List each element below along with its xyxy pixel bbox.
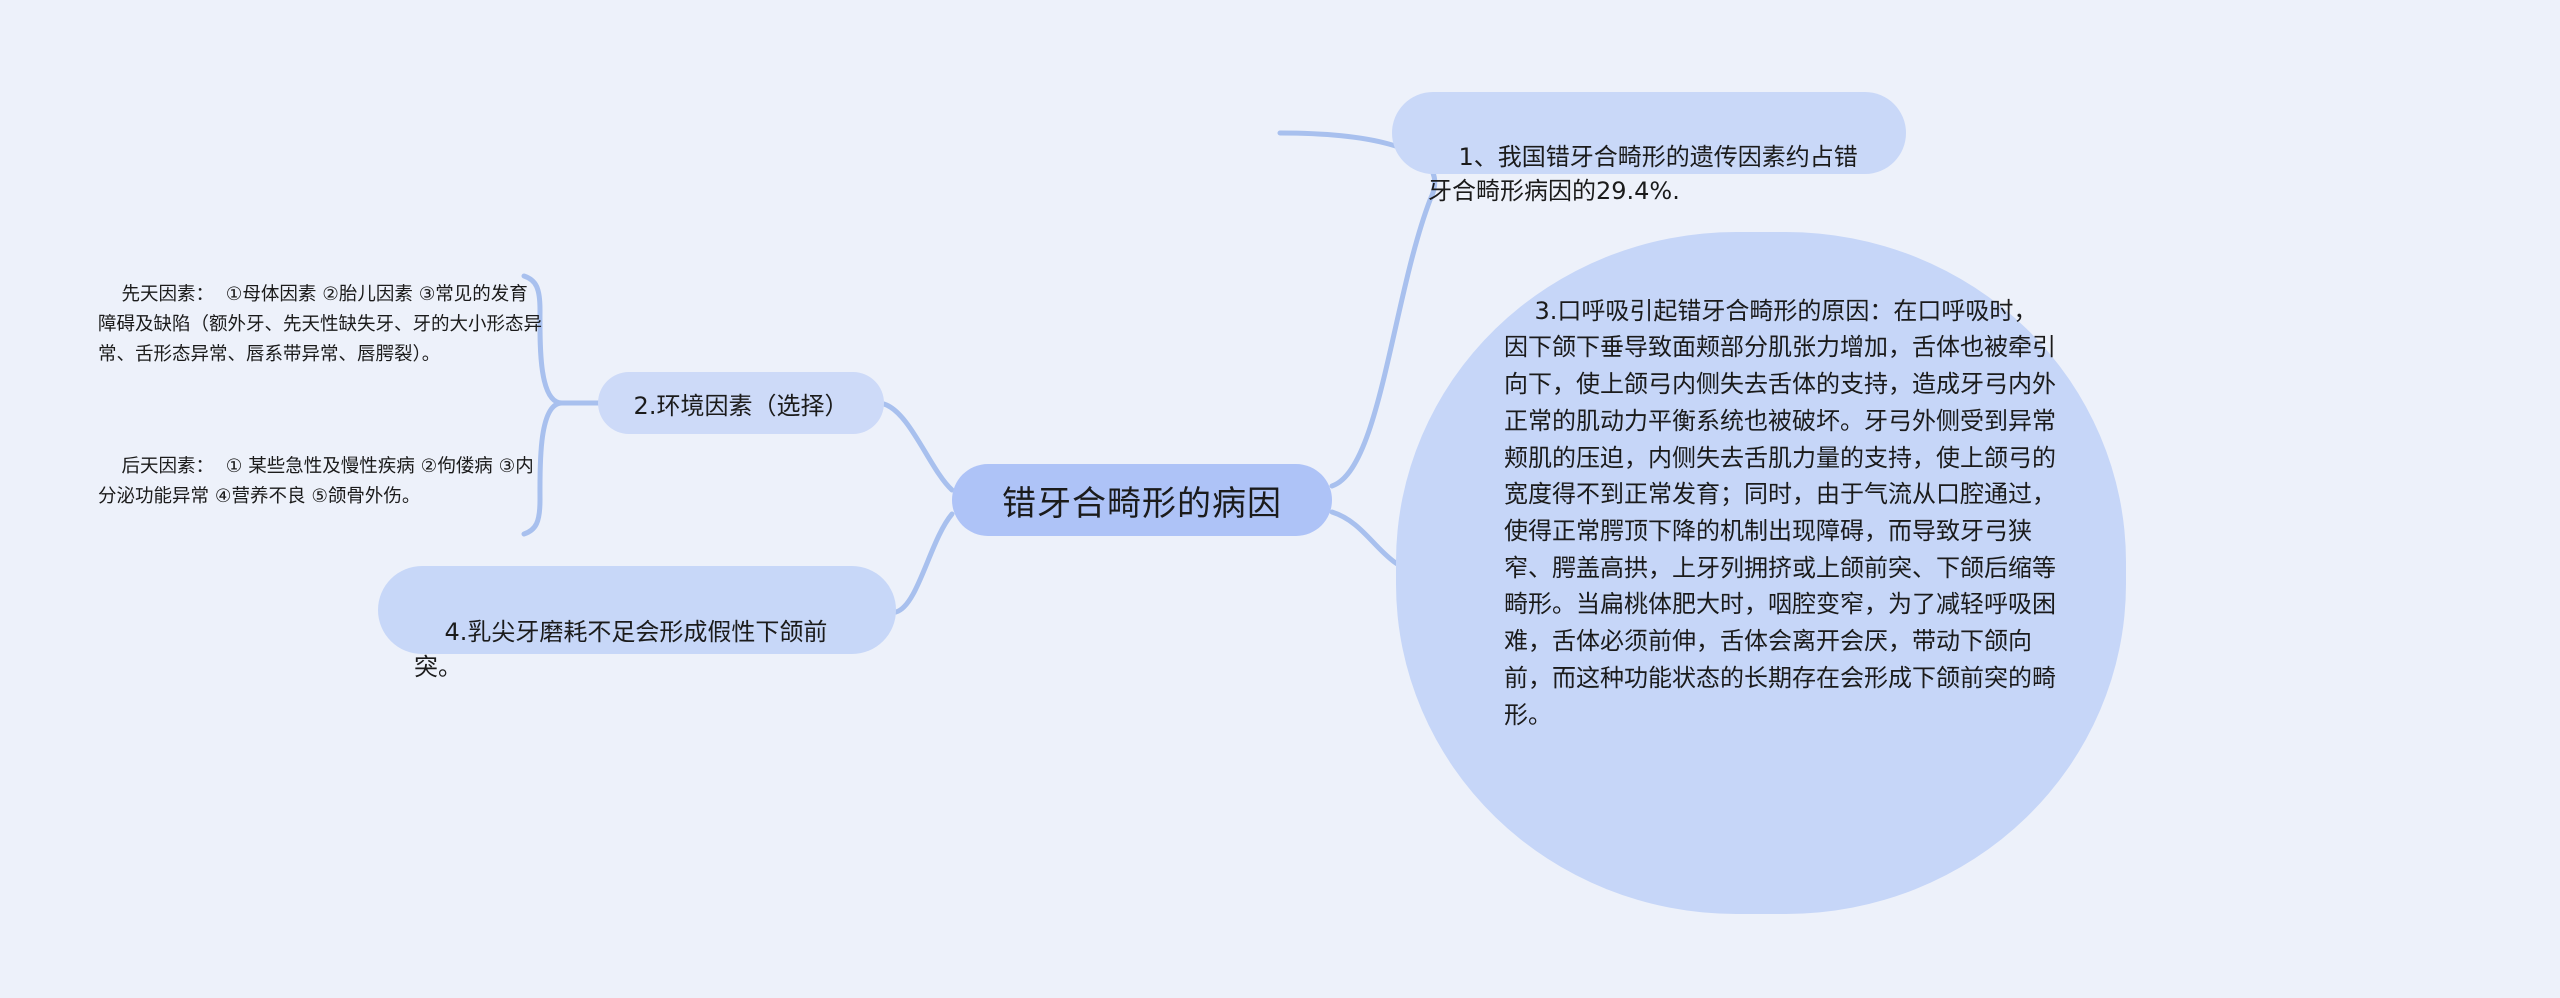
leaf-congenital-factor[interactable]: 先天因素： ①母体因素 ②胎儿因素 ③常见的发育障碍及缺陷（额外牙、先天性缺失牙… [98, 250, 544, 400]
root-node[interactable]: 错牙合畸形的病因 [952, 464, 1332, 536]
node-mouth-breathing-cause-label: 3.口呼吸引起错牙合畸形的原因：在口呼吸时，因下颌下垂导致面颊部分肌张力增加，舌… [1504, 297, 2056, 729]
leaf-acquired-factor-label: 后天因素： ① 某些急性及慢性疾病 ②佝偻病 ③内分泌功能异常 ④营养不良 ⑤颌… [98, 456, 534, 507]
node-environment-factor[interactable]: 2.环境因素（选择） [598, 372, 884, 434]
leaf-congenital-factor-label: 先天因素： ①母体因素 ②胎儿因素 ③常见的发育障碍及缺陷（额外牙、先天性缺失牙… [98, 284, 542, 365]
edge-root-to-canine [896, 514, 952, 612]
mindmap-canvas: 错牙合畸形的病因 1、我国错牙合畸形的遗传因素约占错牙合畸形病因的29.4%. … [0, 0, 2560, 998]
node-mouth-breathing-cause[interactable]: 3.口呼吸引起错牙合畸形的原因：在口呼吸时，因下颌下垂导致面颊部分肌张力增加，舌… [1396, 232, 2126, 914]
edge-root-to-genetic [1280, 133, 1435, 486]
node-deciduous-canine-wear-label: 4.乳尖牙磨耗不足会形成假性下颌前突。 [414, 618, 827, 681]
node-environment-factor-label: 2.环境因素（选择） [634, 386, 849, 421]
edge-root-to-environment [884, 404, 952, 490]
node-genetic-factor-label: 1、我国错牙合畸形的遗传因素约占错牙合畸形病因的29.4%. [1428, 143, 1858, 205]
leaf-acquired-factor[interactable]: 后天因素： ① 某些急性及慢性疾病 ②佝偻病 ③内分泌功能异常 ④营养不良 ⑤颌… [98, 422, 550, 542]
node-deciduous-canine-wear[interactable]: 4.乳尖牙磨耗不足会形成假性下颌前突。 [378, 566, 896, 654]
root-node-label: 错牙合畸形的病因 [1002, 476, 1282, 525]
node-genetic-factor[interactable]: 1、我国错牙合畸形的遗传因素约占错牙合畸形病因的29.4%. [1392, 92, 1906, 174]
